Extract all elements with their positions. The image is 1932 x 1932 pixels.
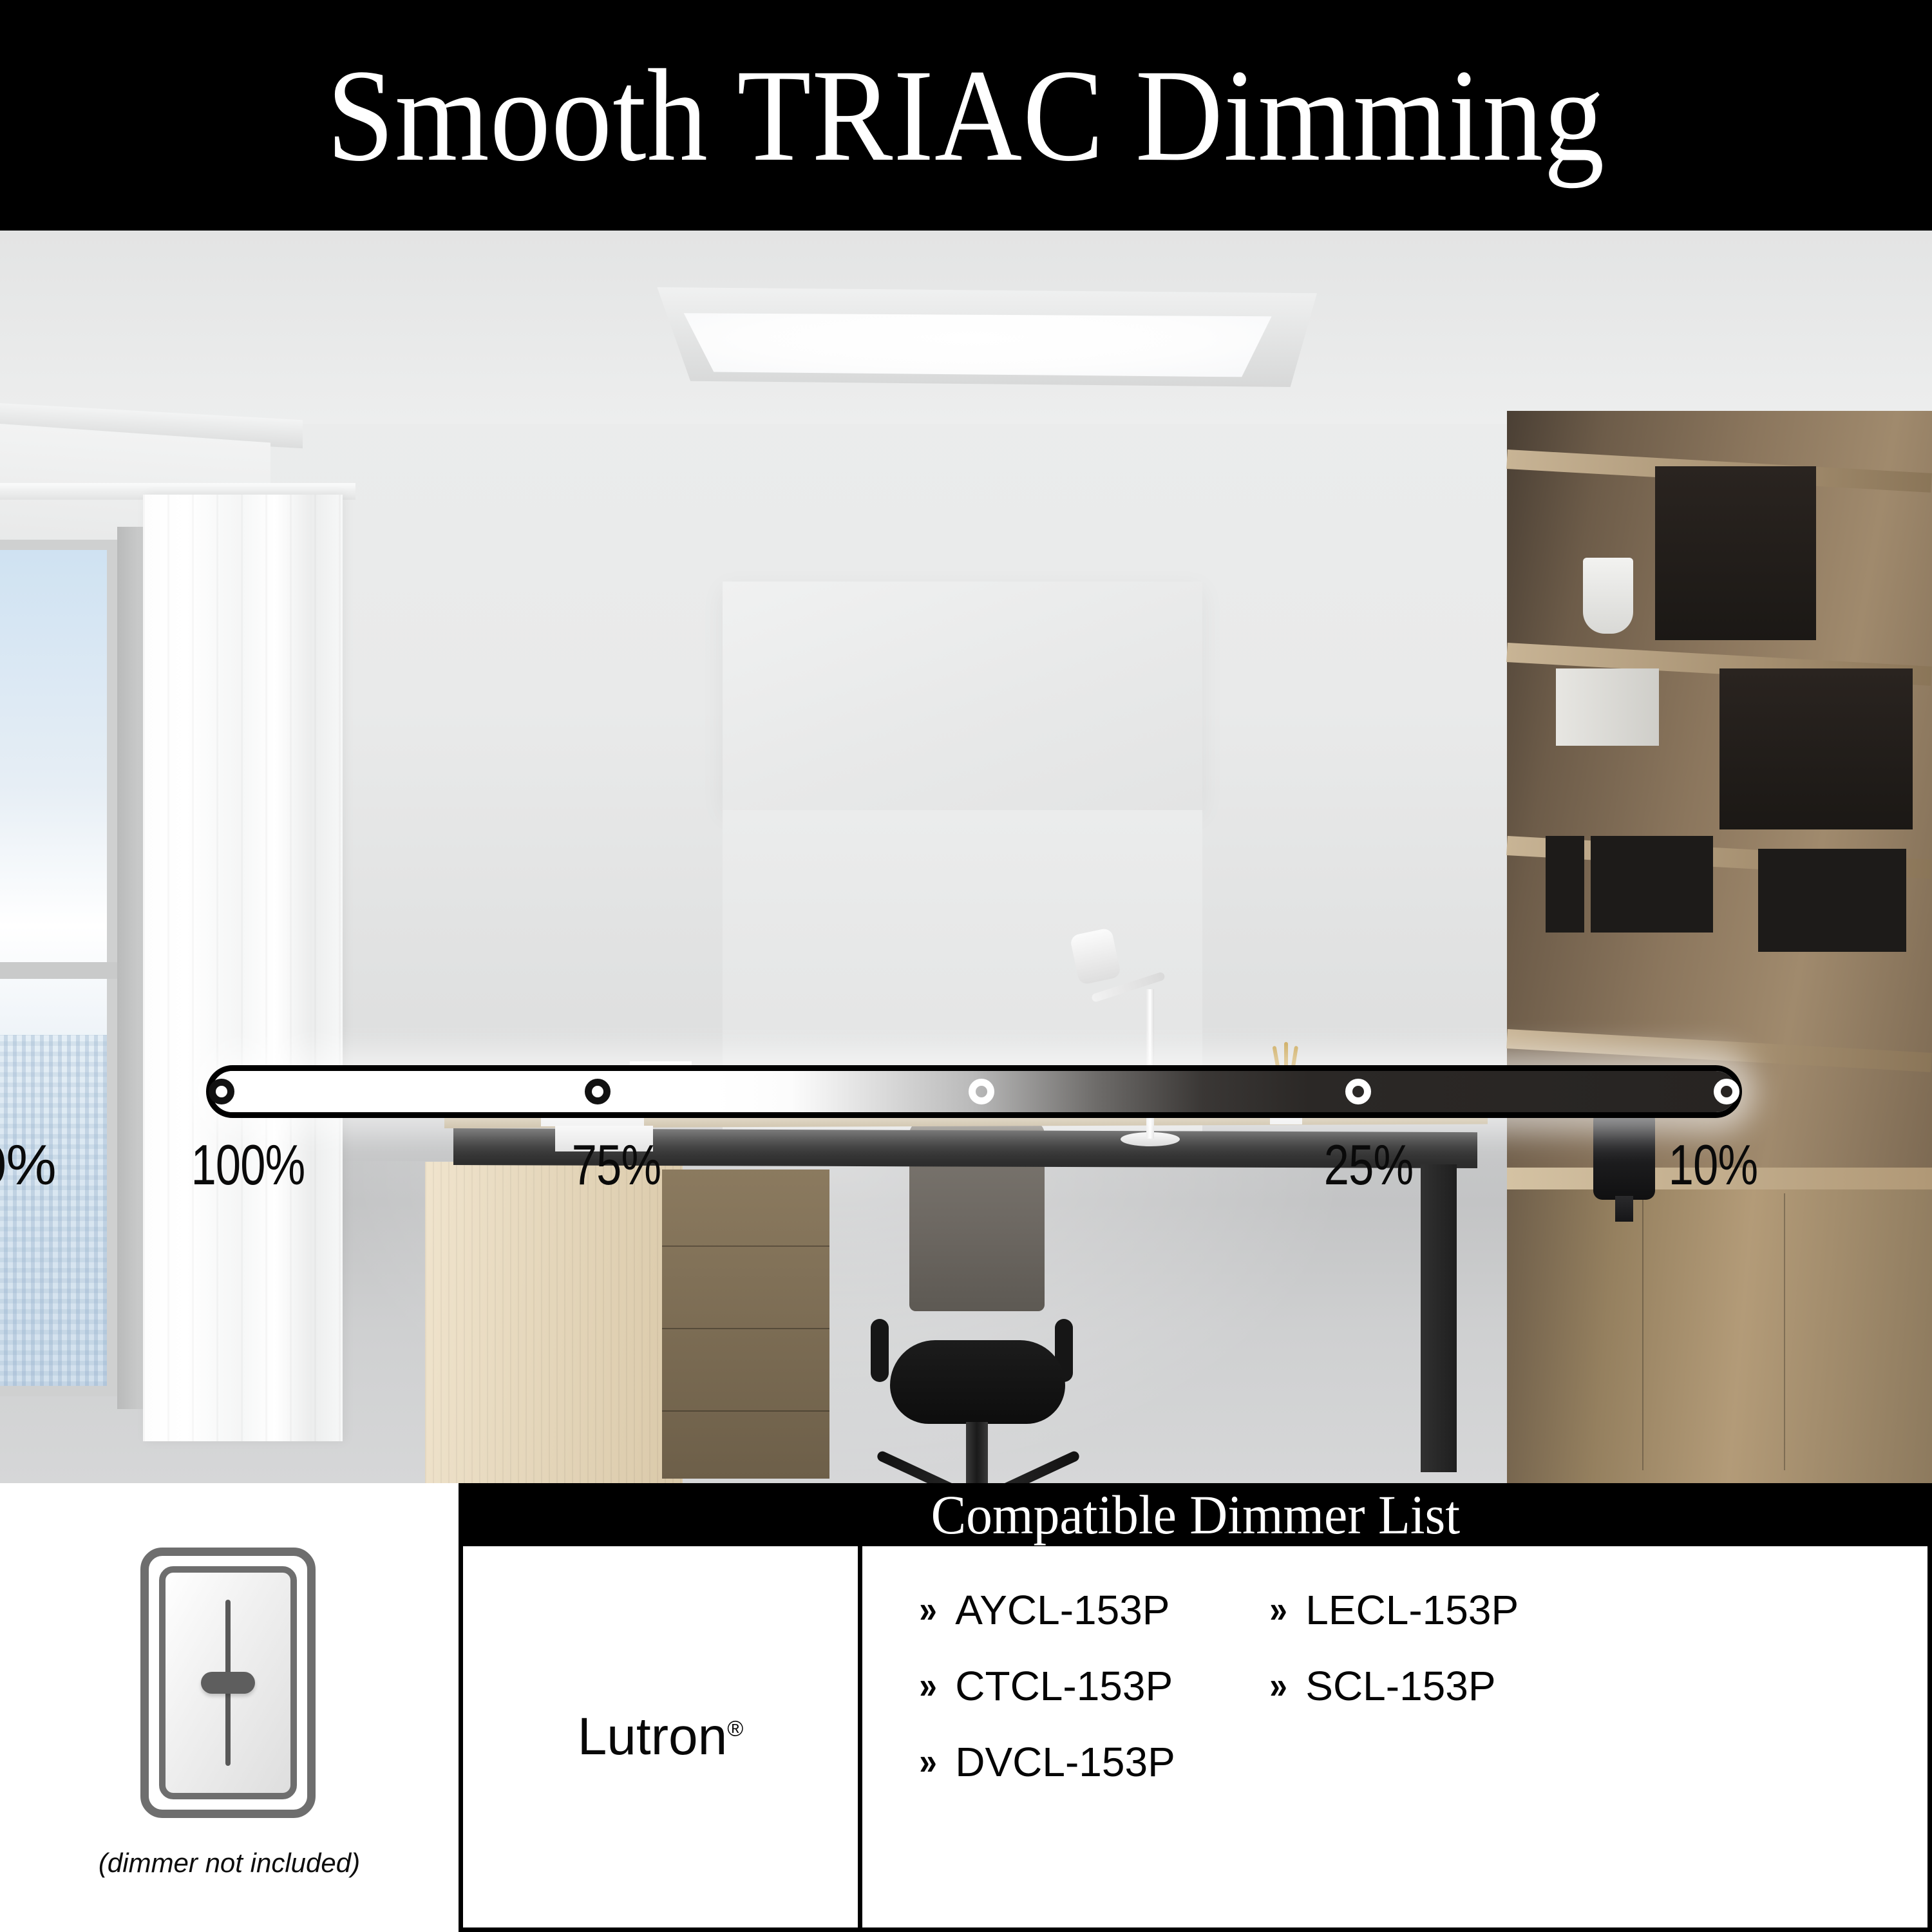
list-item: » CTCL-153P (918, 1662, 1253, 1710)
window-frame (0, 540, 117, 1396)
list-item: » AYCL-153P (918, 1586, 1253, 1634)
led-ceiling-panel (650, 287, 1317, 387)
model-label: AYCL-153P (955, 1586, 1170, 1634)
slider-stop-75[interactable] (585, 1079, 611, 1104)
tick-label-10: 10% (1669, 1132, 1758, 1198)
slider-tick-labels: 100% 75% 50% 25% 10% (0, 1132, 1932, 1197)
bottom-panel: (dimmer not included) Compatible Dimmer … (0, 1483, 1932, 1932)
dimmer-disclaimer: (dimmer not included) (0, 1848, 459, 1879)
models-cell: » AYCL-153P » CTCL-153P » DVCL-153P (862, 1546, 1927, 1927)
brand-cell: Lutron® (463, 1546, 862, 1927)
list-item: » SCL-153P (1268, 1662, 1603, 1710)
tick-label-100: 100% (191, 1132, 305, 1198)
model-label: DVCL-153P (955, 1738, 1175, 1786)
chevron-double-right-icon: » (1269, 1591, 1287, 1629)
cabinet-seam (1642, 1193, 1643, 1470)
city-view (0, 1035, 107, 1386)
cabinet (1507, 1168, 1932, 1483)
dimmer-slider-knob-icon (201, 1672, 255, 1694)
model-label: CTCL-153P (955, 1662, 1173, 1710)
models-column-2: » LECL-153P » SCL-153P (1268, 1586, 1603, 1786)
dimmer-switch-icon (140, 1548, 316, 1818)
book-interior-design (1556, 668, 1659, 746)
wall-panel-upper (723, 582, 1202, 810)
dimmer-table: Lutron® » AYCL-153P » CTCL-153P (459, 1546, 1932, 1932)
shelf-void (1655, 466, 1816, 640)
shelf-void (1719, 668, 1913, 829)
led-panel-diffuser (672, 313, 1272, 377)
slider-stop-100[interactable] (209, 1079, 234, 1104)
desk-leg (1421, 1164, 1457, 1472)
list-heading: Compatible Dimmer List (931, 1482, 1459, 1547)
chevron-double-right-icon: » (919, 1667, 936, 1705)
window-group (0, 540, 188, 1441)
binder (1546, 836, 1584, 933)
chevron-double-right-icon: » (919, 1591, 936, 1629)
window-mullion (0, 962, 117, 979)
tick-label-75: 75% (572, 1132, 661, 1198)
curtain-folds (143, 495, 343, 1441)
page-title: Smooth TRIAC Dimming (327, 50, 1605, 182)
curtain (143, 495, 343, 1441)
brand-label: Lutron (578, 1707, 728, 1766)
list-item: » DVCL-153P (918, 1738, 1253, 1786)
models-grid: » AYCL-153P » CTCL-153P » DVCL-153P (862, 1586, 1927, 1786)
model-label: SCL-153P (1305, 1662, 1495, 1710)
room-photo: 100% 75% 50% 25% 10% (0, 231, 1932, 1483)
book-ancient-art (1758, 849, 1906, 952)
decor-vase (1583, 558, 1633, 634)
slider-stop-25[interactable] (1345, 1079, 1371, 1104)
cabinet-seam (1784, 1193, 1785, 1470)
brand-name: Lutron® (578, 1707, 744, 1767)
registered-trademark-icon: ® (727, 1717, 743, 1741)
title-bar: Smooth TRIAC Dimming (0, 0, 1932, 231)
brightness-slider[interactable] (206, 1065, 1742, 1118)
book-stack (1591, 836, 1713, 933)
dimmer-illustration-column: (dimmer not included) (0, 1483, 459, 1932)
slider-stop-10[interactable] (1714, 1079, 1739, 1104)
list-header: Compatible Dimmer List (459, 1483, 1932, 1546)
tick-label-50: 50% (0, 1132, 56, 1198)
models-column-1: » AYCL-153P » CTCL-153P » DVCL-153P (918, 1586, 1253, 1786)
chevron-double-right-icon: » (919, 1743, 936, 1781)
slider-stop-50[interactable] (969, 1079, 994, 1104)
list-item: » LECL-153P (1268, 1586, 1603, 1634)
tick-label-25: 25% (1324, 1132, 1414, 1198)
compatible-dimmer-list-panel: Compatible Dimmer List Lutron® » AYCL-15… (459, 1483, 1932, 1932)
dimmer-switch-face (159, 1566, 297, 1799)
infographic-page: Smooth TRIAC Dimming (0, 0, 1932, 1932)
model-label: LECL-153P (1305, 1586, 1519, 1634)
chevron-double-right-icon: » (1269, 1667, 1287, 1705)
